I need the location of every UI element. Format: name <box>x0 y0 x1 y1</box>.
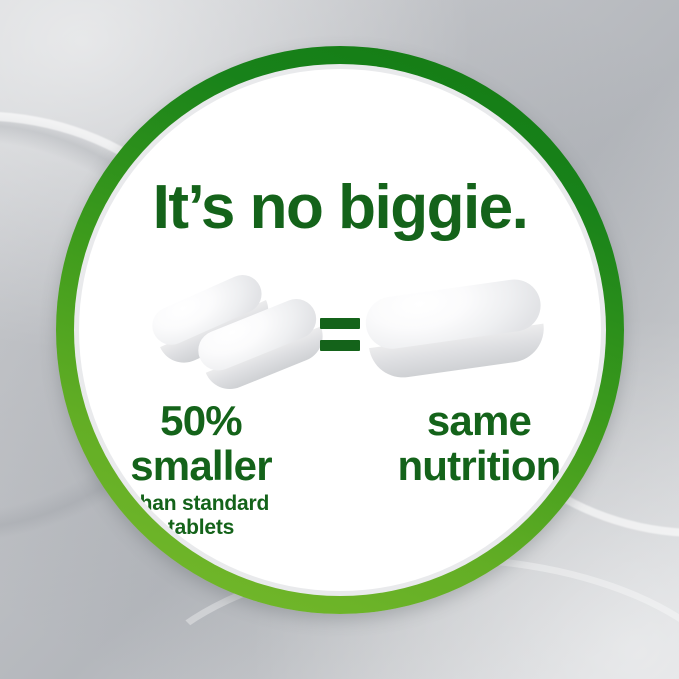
right-caption-block: same nutrition <box>345 399 601 539</box>
left-caption-line-2: smaller <box>79 444 323 489</box>
left-subcaption-line-2: tablets <box>79 516 323 540</box>
equals-bar-top <box>320 318 360 329</box>
caption-row: 50% smaller than standard tablets same n… <box>79 399 601 539</box>
left-caption-secondary: than standard tablets <box>79 492 323 539</box>
left-subcaption-line-1: than standard <box>79 492 323 516</box>
equals-bar-bottom <box>320 340 360 351</box>
large-tablet-group <box>363 282 553 392</box>
right-caption-line-2: nutrition <box>357 444 601 489</box>
small-tablets-group <box>151 284 331 399</box>
marketing-graphic-canvas: It’s no biggie. <box>0 0 679 679</box>
green-ring: It’s no biggie. <box>56 46 624 614</box>
comparison-row <box>79 274 601 394</box>
left-caption-primary: 50% smaller <box>79 399 323 488</box>
right-caption-line-1: same <box>357 399 601 444</box>
left-caption-line-1: 50% <box>79 399 323 444</box>
left-caption-block: 50% smaller than standard tablets <box>79 399 345 539</box>
page-title: It’s no biggie. <box>79 177 601 239</box>
right-caption-primary: same nutrition <box>357 399 601 488</box>
equals-sign-icon <box>320 318 360 351</box>
white-disc: It’s no biggie. <box>79 69 601 591</box>
